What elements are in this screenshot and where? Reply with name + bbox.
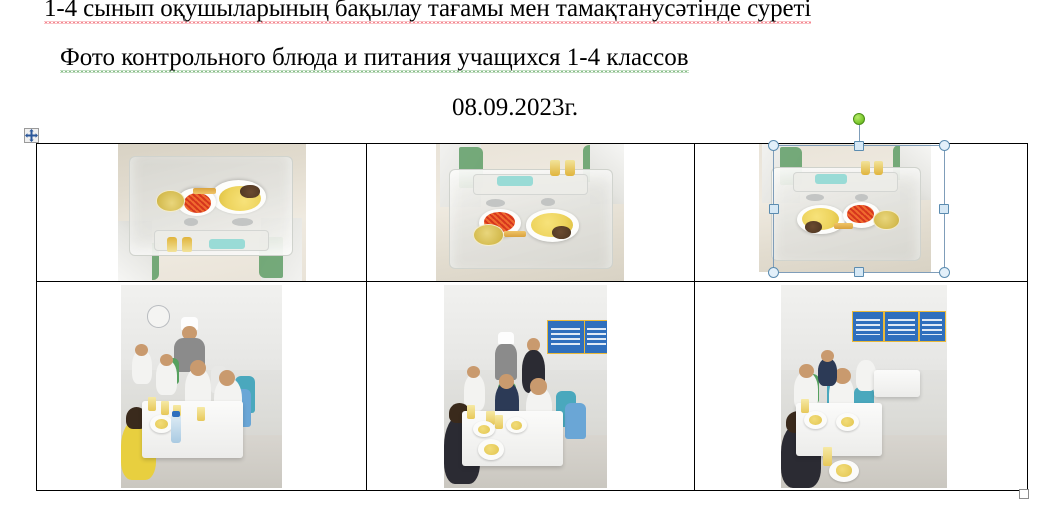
table-resize-grip-icon[interactable] <box>1019 489 1029 499</box>
table-move-handle-icon[interactable] <box>24 128 39 143</box>
heading-kazakh-text: 1-4 сынып оқушыларының бақылау тағамы ме… <box>44 0 811 24</box>
info-board <box>584 320 607 354</box>
food-plate <box>478 439 504 459</box>
food-tray <box>771 167 921 261</box>
juice-glass <box>197 407 205 421</box>
juice-glass <box>161 401 169 415</box>
info-board <box>852 311 884 341</box>
heading-date-text: 08.09.2023г. <box>452 94 578 121</box>
spoon <box>232 218 253 226</box>
juice-glass <box>550 160 560 176</box>
pickle-bowl <box>156 190 185 212</box>
heading-kazakh[interactable]: 1-4 сынып оқушыларының бақылау тағамы ме… <box>44 0 811 23</box>
juice-glass <box>148 397 156 411</box>
teal-container <box>497 176 533 187</box>
teal-container <box>209 239 245 250</box>
table-cell-r2c3[interactable] <box>695 282 1028 491</box>
control-dish-photo-1[interactable] <box>118 144 306 281</box>
food-plate <box>150 415 173 433</box>
canteen-photo-1[interactable] <box>121 285 282 488</box>
spoon <box>486 199 505 207</box>
juice-glass <box>182 237 192 253</box>
teal-container <box>815 174 848 184</box>
table-cell-r2c1[interactable] <box>37 282 367 491</box>
student-head <box>530 378 546 394</box>
dining-table <box>874 370 920 396</box>
food-plate <box>829 460 859 482</box>
bread-slice <box>504 231 527 237</box>
food-tray <box>449 169 613 270</box>
bottle-cap <box>172 411 180 417</box>
spoon <box>184 218 199 226</box>
bread-slice <box>193 188 216 194</box>
food-tray <box>129 156 293 257</box>
table-row <box>37 144 1028 282</box>
info-board <box>547 320 585 354</box>
juice-glass <box>801 399 809 413</box>
water-bottle <box>171 415 181 443</box>
juice-glass <box>467 405 475 419</box>
meat-portion <box>240 185 259 198</box>
juice-glass <box>861 161 870 176</box>
food-plate <box>836 413 859 431</box>
table-cell-r1c2[interactable] <box>367 144 695 282</box>
spoon <box>806 194 824 201</box>
table-row <box>37 282 1028 491</box>
meat-portion <box>805 221 823 233</box>
student-head <box>160 354 173 366</box>
heading-date[interactable]: 08.09.2023г. <box>452 94 578 122</box>
canteen-photo-3[interactable] <box>781 285 947 488</box>
chair <box>565 403 586 440</box>
info-board <box>884 311 919 341</box>
spoon <box>541 198 556 206</box>
canteen-photo-2[interactable] <box>444 285 607 488</box>
carrot-salad <box>184 193 211 213</box>
juice-glass <box>495 415 503 429</box>
bread-slice <box>834 223 853 229</box>
meat-portion <box>552 226 571 239</box>
student <box>856 360 876 390</box>
heading-russian[interactable]: Фото контрольного блюда и питания учащих… <box>60 44 689 72</box>
wall-clock <box>147 305 170 327</box>
rotate-handle-icon[interactable] <box>853 113 865 125</box>
table-cell-r1c3[interactable] <box>695 144 1028 282</box>
table-cell-r1c1[interactable] <box>37 144 367 282</box>
pickle-bowl <box>473 224 504 246</box>
info-board <box>919 311 946 341</box>
cook-hat <box>498 332 514 344</box>
control-dish-photo-2[interactable] <box>436 144 624 281</box>
juice-glass <box>565 160 575 176</box>
photo-table[interactable] <box>36 143 1028 491</box>
spoon <box>855 194 868 201</box>
juice-glass <box>874 161 883 176</box>
juice-glass <box>167 237 177 253</box>
pickle-bowl <box>873 210 900 230</box>
table-cell-r2c2[interactable] <box>367 282 695 491</box>
juice-glass <box>823 447 833 465</box>
control-dish-photo-3[interactable] <box>759 144 931 272</box>
food-plate <box>473 421 494 437</box>
heading-russian-text: Фото контрольного блюда и питания учащих… <box>60 44 689 73</box>
student-head <box>499 374 514 388</box>
student <box>818 358 838 386</box>
